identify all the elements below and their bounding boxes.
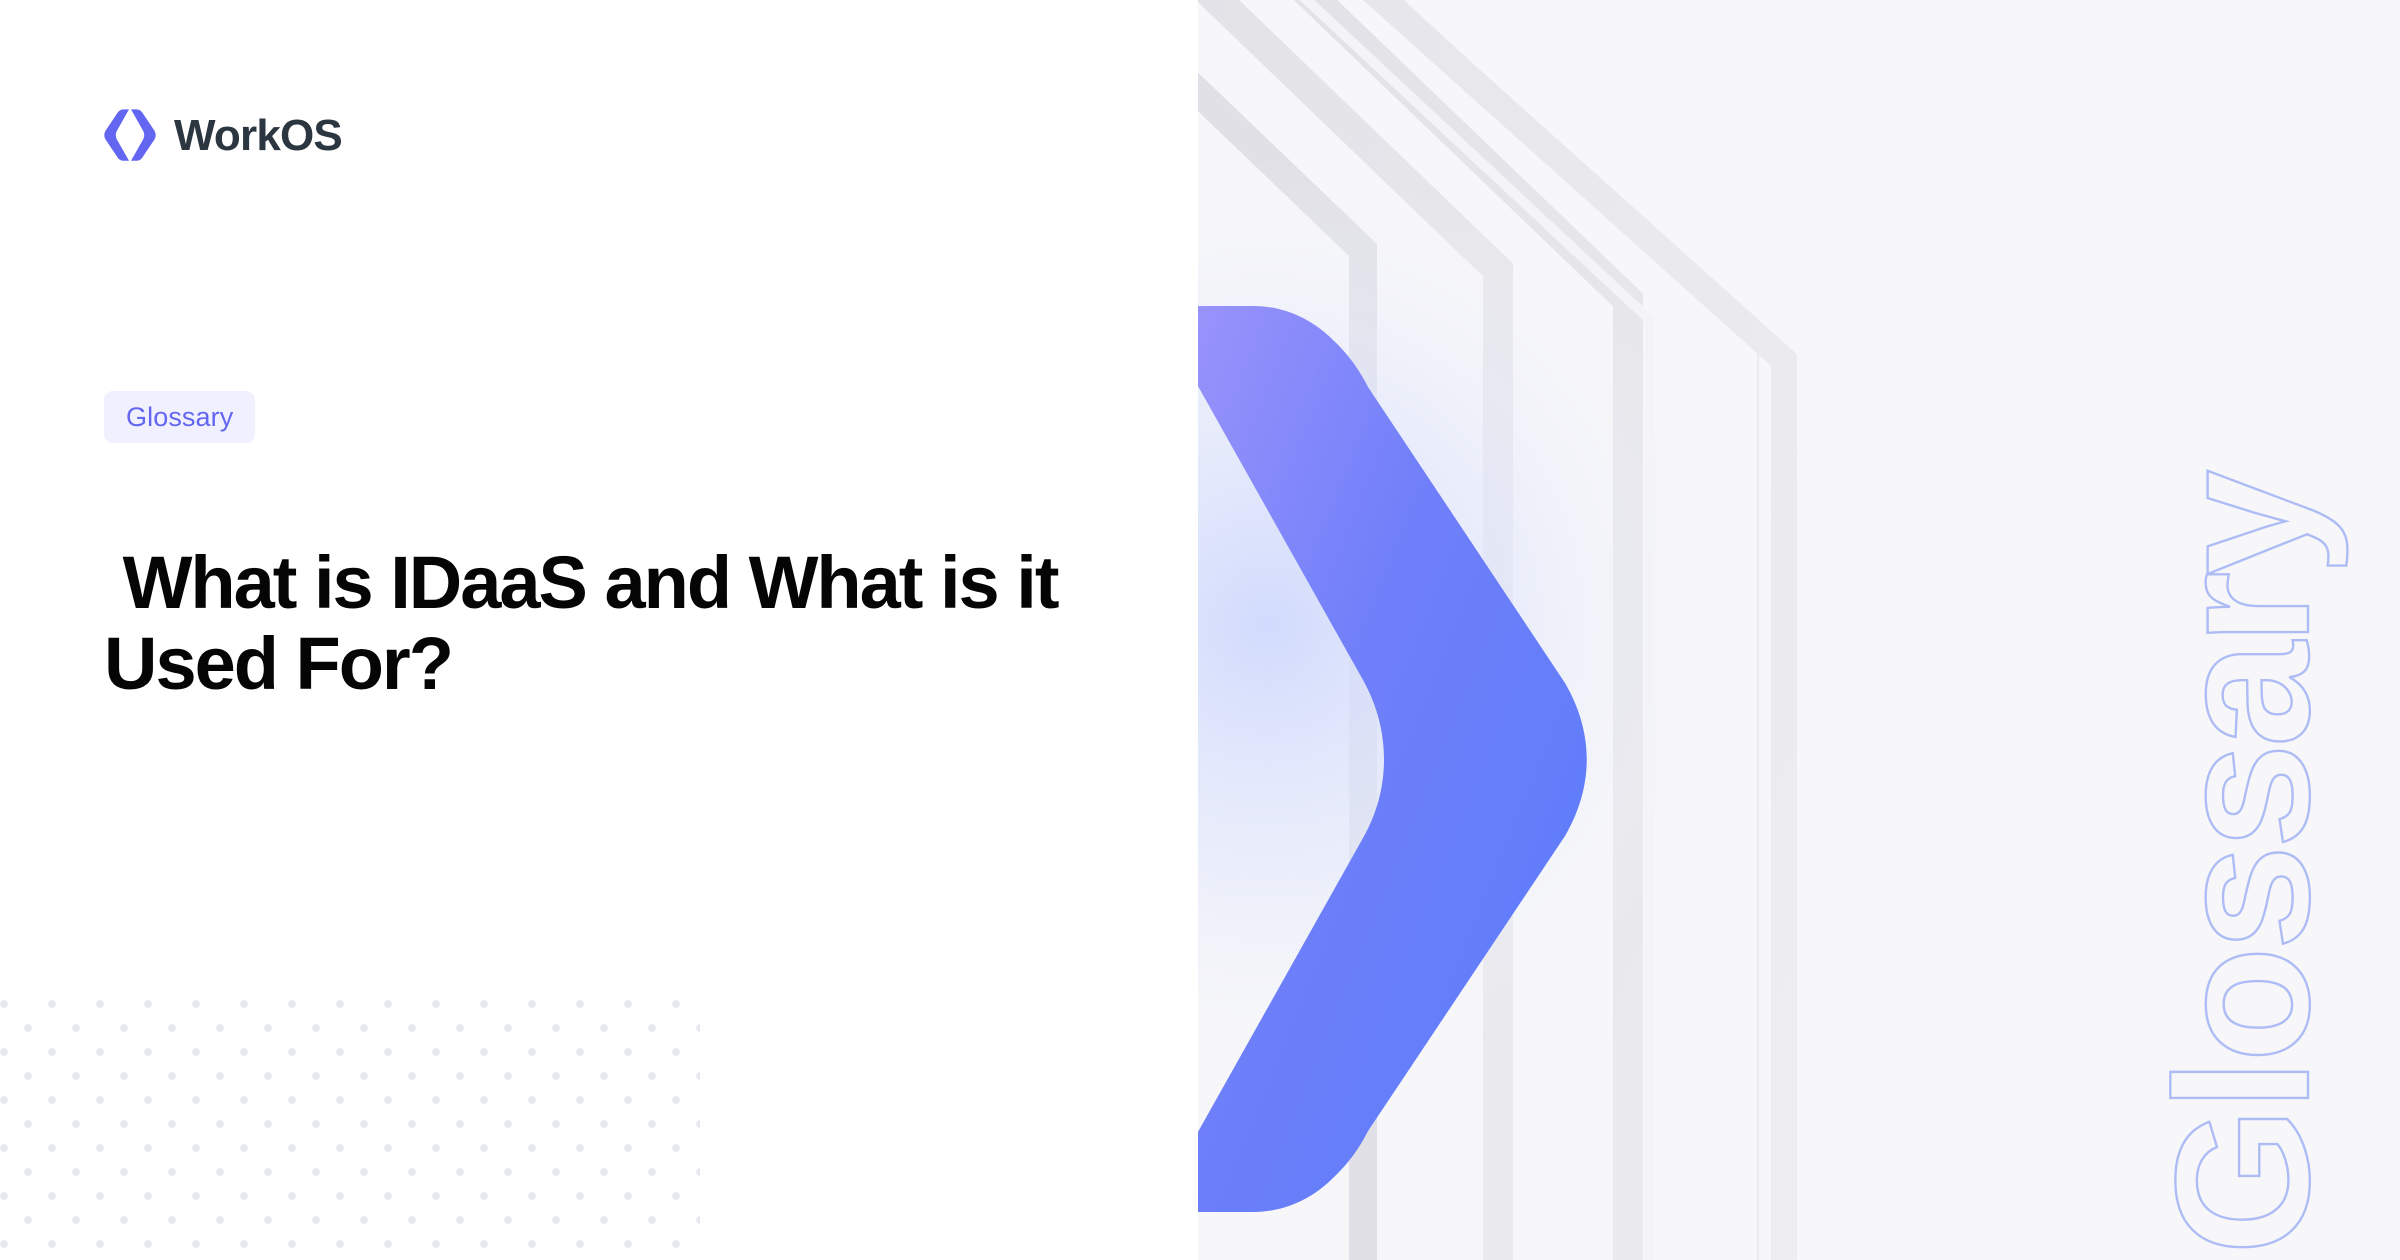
dot-grid-pattern-icon bbox=[0, 1000, 700, 1260]
workos-hexagon-logo-icon bbox=[104, 109, 156, 163]
left-content-panel: WorkOS Glossary What is IDaaS and What i… bbox=[0, 0, 1198, 1260]
workos-logo[interactable]: WorkOS bbox=[104, 108, 342, 164]
right-artwork-panel: Glossary bbox=[1198, 0, 2400, 1260]
workos-wordmark: WorkOS bbox=[174, 114, 342, 158]
category-badge-glossary[interactable]: Glossary bbox=[104, 391, 255, 443]
page-title: What is IDaaS and What is it Used For? bbox=[104, 543, 1114, 704]
hexagon-layers-artwork bbox=[1198, 0, 2400, 1260]
glossary-hero-page: WorkOS Glossary What is IDaaS and What i… bbox=[0, 0, 2400, 1260]
